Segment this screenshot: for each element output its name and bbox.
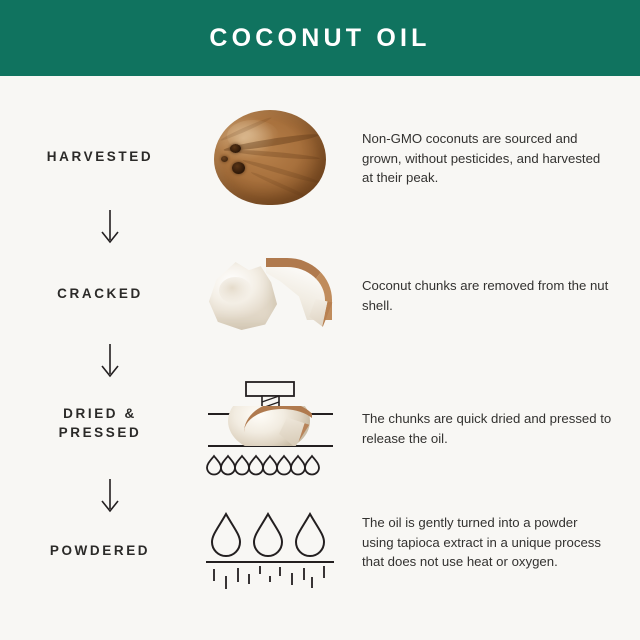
step-description-dried-pressed: The chunks are quick dried and pressed t… [362, 409, 612, 448]
down-arrow-icon [96, 344, 124, 378]
whole-coconut-icon [214, 110, 326, 205]
step-row-cracked: CRACKED Coconut chunks are removed from … [0, 252, 640, 342]
step-art-cracked [200, 256, 340, 332]
powder-illustration [200, 508, 340, 590]
pressed-coconut-photo [226, 406, 312, 446]
page-title: Coconut Oil [209, 24, 430, 53]
cracked-coconut-icon [200, 256, 340, 332]
header-banner: Coconut Oil [0, 0, 640, 76]
step-description-powdered: The oil is gently turned into a powder u… [362, 513, 612, 572]
infographic-page: Coconut Oil HARVESTED Non-GMO coconuts a… [0, 0, 640, 640]
step-label-harvested: HARVESTED [0, 147, 200, 166]
step-row-dried-pressed: DRIED &PRESSED [0, 378, 640, 478]
step-description-cracked: Coconut chunks are removed from the nut … [362, 276, 612, 315]
arrow-harvested-to-cracked [96, 210, 124, 244]
powder-specks-icon [214, 566, 324, 589]
down-arrow-icon [96, 210, 124, 244]
step-label-dried-pressed: DRIED &PRESSED [0, 404, 200, 442]
arrow-cracked-to-dried [96, 344, 124, 378]
step-art-powdered [200, 508, 340, 590]
step-label-cracked: CRACKED [0, 284, 200, 303]
press-illustration [200, 378, 340, 476]
step-row-powdered: POWDERED [0, 508, 640, 600]
step-art-dried-pressed [200, 378, 340, 476]
powder-line-art-icon [200, 508, 340, 590]
oil-drop-icon [212, 514, 324, 556]
step-label-powdered: POWDERED [0, 541, 200, 560]
step-row-harvested: HARVESTED Non-GMO coconuts are sourced a… [0, 108, 640, 208]
step-label-dried-pressed-text: DRIED &PRESSED [59, 406, 142, 440]
oil-drop-icon [207, 456, 319, 475]
step-description-harvested: Non-GMO coconuts are sourced and grown, … [362, 129, 612, 188]
step-art-harvested [200, 110, 340, 205]
